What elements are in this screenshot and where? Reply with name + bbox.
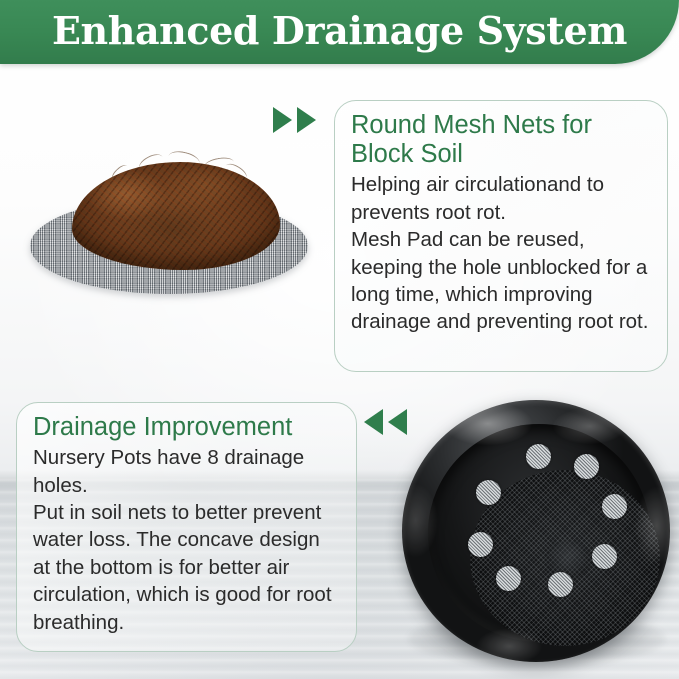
- header-banner: Enhanced Drainage System: [0, 0, 679, 64]
- drainage-hole: [526, 444, 551, 469]
- drainage-hole: [548, 572, 573, 597]
- drainage-hole: [602, 494, 627, 519]
- card-mesh-nets-title: Round Mesh Nets for Block Soil: [351, 111, 653, 169]
- drainage-hole: [468, 532, 493, 557]
- infographic-page: Enhanced Drainage System Round Mesh Nets…: [0, 0, 679, 679]
- triangle-left-icon: [364, 409, 383, 435]
- pot-body: [402, 400, 670, 662]
- nursery-pot-photo: [398, 398, 676, 676]
- card-drainage-improvement: Drainage Improvement Nursery Pots have 8…: [16, 402, 357, 652]
- triangle-right-icon: [273, 107, 292, 133]
- drainage-hole: [496, 566, 521, 591]
- page-title: Enhanced Drainage System: [52, 12, 627, 52]
- card-mesh-nets: Round Mesh Nets for Block Soil Helping a…: [334, 100, 668, 372]
- triangle-right-icon: [297, 107, 316, 133]
- card-drainage-improvement-title: Drainage Improvement: [33, 413, 342, 442]
- drainage-hole: [592, 544, 617, 569]
- pot-inner-wall: [428, 424, 650, 642]
- drainage-hole: [574, 454, 599, 479]
- drainage-hole: [476, 480, 501, 505]
- soil-pile: [72, 162, 280, 270]
- soil-texture: [72, 162, 280, 270]
- mesh-pad-photo: [18, 150, 318, 300]
- arrow-marker-mesh: [273, 107, 316, 133]
- card-mesh-nets-body: Helping air circulationand to prevents r…: [351, 171, 653, 336]
- card-drainage-improvement-body: Nursery Pots have 8 drainage holes. Put …: [33, 444, 342, 636]
